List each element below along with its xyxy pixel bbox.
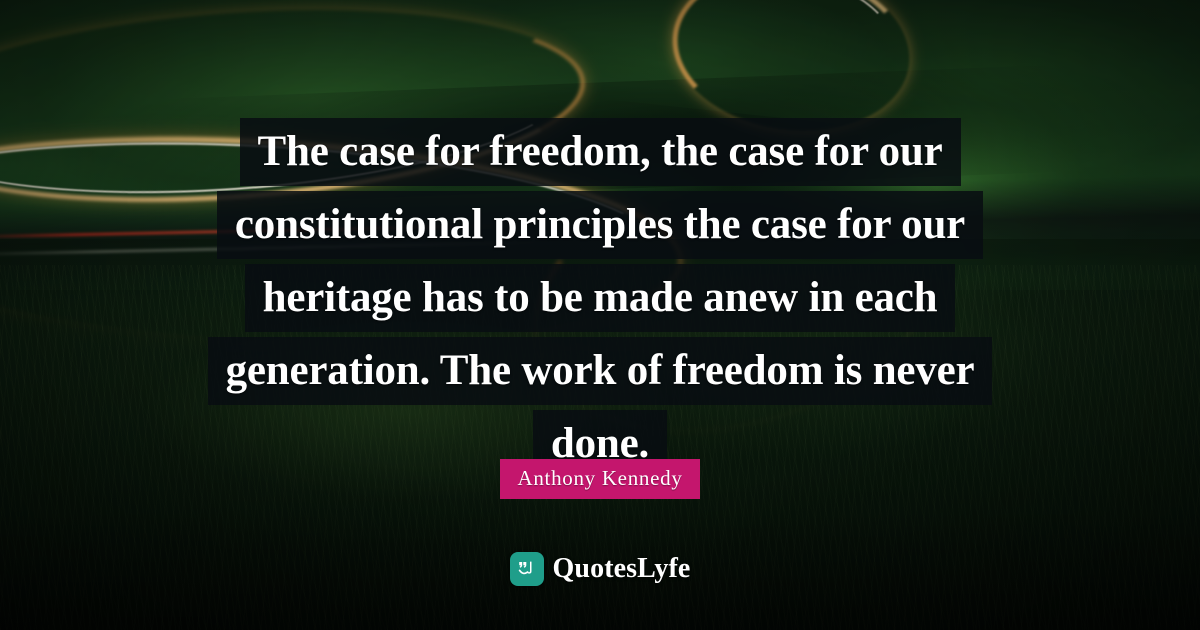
author-attribution: Anthony Kennedy [0,459,1200,499]
quote-line: The case for freedom, the case for our [240,118,961,186]
quote-text-block: The case for freedom, the case for our c… [0,118,1200,478]
quote-line: constitutional principles the case for o… [217,191,983,259]
quote-line: generation. The work of freedom is never [208,337,993,405]
quote-smiley-icon [510,552,544,586]
brand-name-label: QuotesLyfe [553,555,691,583]
author-name-badge: Anthony Kennedy [500,459,699,499]
brand-logo: QuotesLyfe [0,552,1200,586]
card-content: The case for freedom, the case for our c… [0,0,1200,630]
quote-line: heritage has to be made anew in each [245,264,956,332]
quote-card: The case for freedom, the case for our c… [0,0,1200,630]
